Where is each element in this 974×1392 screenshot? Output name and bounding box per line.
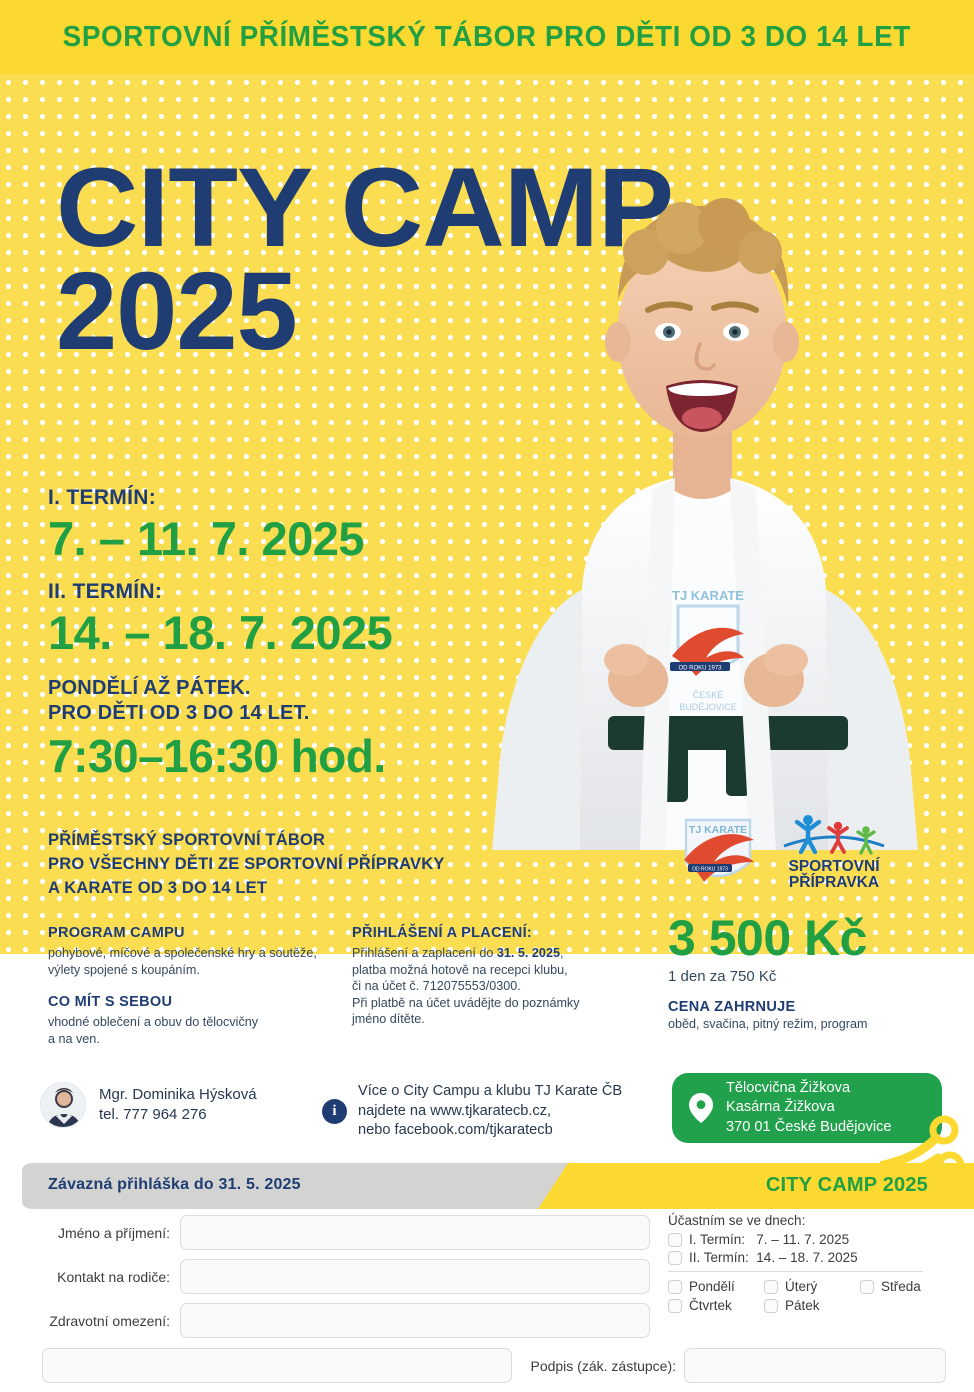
payment-line-1-pre: Přihlášení a zaplacení do	[352, 946, 497, 960]
field-row-health: Zdravotní omezení:	[42, 1303, 652, 1338]
checkbox-row-thursday[interactable]: Čtvrtek	[668, 1298, 764, 1313]
payment-line-3: či na účet č. 712075553/0300.	[352, 978, 642, 995]
svg-text:OD ROKU 1973: OD ROKU 1973	[678, 666, 722, 672]
checkbox-row-term-2[interactable]: II. Termín: 14. – 18. 7. 2025	[668, 1250, 968, 1265]
payment-line-2: platba možná hotově na recepci klubu,	[352, 962, 642, 979]
checkbox-term-1[interactable]	[668, 1233, 682, 1247]
title-line-2: 2025	[56, 260, 661, 364]
title-line-1: CITY CAMP	[56, 160, 673, 256]
checkbox-row-wednesday[interactable]: Středa	[860, 1279, 956, 1294]
svg-text:TJ KARATE: TJ KARATE	[689, 824, 747, 836]
weekday-row-1: Pondělí Úterý Středa	[668, 1279, 968, 1298]
program-body-2: výlety spojené s koupáním.	[48, 962, 338, 979]
program-body-1: pohybové, míčové a společenské hry a sou…	[48, 945, 338, 962]
checkbox-label-thursday: Čtvrtek	[689, 1298, 732, 1313]
hours-line-1: PONDĚLÍ AŽ PÁTEK.	[48, 676, 386, 701]
term-1-checkbox-value: 7. – 11. 7. 2025	[756, 1232, 849, 1247]
checkbox-divider	[668, 1271, 923, 1272]
checkbox-thursday[interactable]	[668, 1299, 682, 1313]
price-per-day: 1 den za 750 Kč	[668, 968, 868, 985]
hours-line-2: PRO DĚTI OD 3 DO 14 LET.	[48, 701, 386, 726]
term-2-value: 14. – 18. 7. 2025	[48, 606, 392, 660]
term-2-checkbox-value: 14. – 18. 7. 2025	[756, 1250, 857, 1265]
payment-line-1: Přihlášení a zaplacení do 31. 5. 2025,	[352, 945, 642, 962]
location-line-1: Tělocvična Žižkova	[726, 1079, 892, 1099]
svg-text:SPORTOVNÍ: SPORTOVNÍ	[788, 858, 880, 875]
program-column: PROGRAM CAMPU pohybové, míčové a společe…	[48, 925, 338, 1047]
field-label-parent-contact: Kontakt na rodiče:	[42, 1269, 170, 1285]
svg-text:BUDĚJOVICE: BUDĚJOVICE	[679, 702, 737, 712]
checkbox-monday[interactable]	[668, 1280, 682, 1294]
payment-deadline: 31. 5. 2025	[497, 946, 560, 960]
svg-text:TJ KARATE: TJ KARATE	[672, 588, 744, 603]
svg-text:OD ROKU 1973: OD ROKU 1973	[692, 867, 728, 873]
avatar-photo-icon	[41, 1083, 86, 1128]
weblink-line-2[interactable]: najdete na www.tjkaratecb.cz,	[358, 1102, 622, 1122]
field-input-parent-contact[interactable]	[180, 1259, 650, 1294]
term-2-checkbox-label: II. Termín:	[689, 1250, 749, 1265]
poster-title: CITY CAMP 2025	[56, 160, 661, 364]
field-input-name[interactable]	[180, 1215, 650, 1250]
checkbox-label-term-1: I. Termín: 7. – 11. 7. 2025	[689, 1232, 849, 1247]
top-banner-text: SPORTOVNÍ PŘÍMĚSTSKÝ TÁBOR PRO DĚTI OD 3…	[63, 21, 911, 54]
term-2-label: II. TERMÍN:	[48, 580, 392, 604]
location-line-3: 370 01 České Budějovice	[726, 1118, 892, 1138]
checkbox-label-friday: Pátek	[785, 1298, 820, 1313]
payment-heading: PŘIHLÁŠENÍ A PLACENÍ:	[352, 925, 642, 941]
location-line-2: Kasárna Žižkova	[726, 1098, 892, 1118]
sportovni-pripravka-logo-icon: SPORTOVNÍ PŘÍPRAVKA	[774, 812, 894, 892]
weblink-line-1: Více o City Campu a klubu TJ Karate ČB	[358, 1082, 622, 1102]
bring-body-2: a na ven.	[48, 1031, 338, 1048]
payment-line-4: Při platbě na účet uvádějte do poznámky	[352, 995, 642, 1012]
price-includes-body: oběd, svačina, pitný režim, program	[668, 1017, 868, 1031]
subtitle-line-3: A KARATE OD 3 DO 14 LET	[48, 876, 445, 900]
weblink-line-3[interactable]: nebo facebook.com/tjkaratecb	[358, 1121, 622, 1141]
field-label-health: Zdravotní omezení:	[42, 1313, 170, 1329]
attendance-title: Účastním se ve dnech:	[668, 1213, 968, 1228]
field-input-health[interactable]	[180, 1303, 650, 1338]
price-includes-heading: CENA ZAHRNUJE	[668, 999, 868, 1015]
form-header-brand: CITY CAMP 2025	[766, 1174, 928, 1197]
location-text: Tělocvična Žižkova Kasárna Žižkova 370 0…	[726, 1079, 892, 1138]
hours-value: 7:30–16:30 hod.	[48, 730, 386, 782]
bring-heading: CO MÍT S SEBOU	[48, 994, 338, 1010]
tj-karate-logo-icon: TJ KARATE OD ROKU 1973	[676, 812, 760, 896]
svg-text:ČESKÉ: ČESKÉ	[693, 690, 724, 700]
dates-block: I. TERMÍN: 7. – 11. 7. 2025 II. TERMÍN: …	[48, 486, 392, 660]
checkbox-row-tuesday[interactable]: Úterý	[764, 1279, 860, 1294]
checkbox-term-2[interactable]	[668, 1251, 682, 1265]
contact-block: Mgr. Dominika Hýsková tel. 777 964 276	[40, 1082, 257, 1128]
field-row-name: Jméno a příjmení:	[42, 1215, 652, 1250]
payment-line-5: jméno dítěte.	[352, 1011, 642, 1028]
checkbox-tuesday[interactable]	[764, 1280, 778, 1294]
subtitle-line-2: PRO VŠECHNY DĚTI ZE SPORTOVNÍ PŘÍPRAVKY	[48, 852, 445, 876]
field-input-signature[interactable]	[684, 1348, 946, 1383]
logos-row: TJ KARATE OD ROKU 1973 SPORTOVNÍ PŘÍPRAV…	[676, 812, 894, 896]
bring-body-1: vhodné oblečení a obuv do tělocvičny	[48, 1014, 338, 1031]
contact-text: Mgr. Dominika Hýsková tel. 777 964 276	[99, 1085, 257, 1125]
contact-phone: tel. 777 964 276	[99, 1105, 257, 1125]
term-1-value: 7. – 11. 7. 2025	[48, 512, 392, 566]
hours-block: PONDĚLÍ AŽ PÁTEK. PRO DĚTI OD 3 DO 14 LE…	[48, 676, 386, 782]
poster-root: SPORTOVNÍ PŘÍMĚSTSKÝ TÁBOR PRO DĚTI OD 3…	[0, 0, 974, 1392]
top-banner: SPORTOVNÍ PŘÍMĚSTSKÝ TÁBOR PRO DĚTI OD 3…	[0, 0, 974, 74]
checkbox-label-tuesday: Úterý	[785, 1279, 817, 1294]
info-icon: i	[322, 1099, 347, 1124]
payment-column: PŘIHLÁŠENÍ A PLACENÍ: Přihlášení a zapla…	[352, 925, 642, 1028]
subtitle-line-1: PŘÍMĚSTSKÝ SPORTOVNÍ TÁBOR	[48, 828, 445, 852]
field-input-note[interactable]	[42, 1348, 512, 1383]
program-heading: PROGRAM CAMPU	[48, 925, 338, 941]
subtitle-block: PŘÍMĚSTSKÝ SPORTOVNÍ TÁBOR PRO VŠECHNY D…	[48, 828, 445, 900]
checkbox-label-wednesday: Středa	[881, 1279, 921, 1294]
field-row-signature: Podpis (zák. zástupce):	[528, 1348, 946, 1383]
svg-text:PŘÍPRAVKA: PŘÍPRAVKA	[789, 873, 879, 891]
checkbox-row-monday[interactable]: Pondělí	[668, 1279, 764, 1294]
payment-line-1-post: ,	[560, 946, 564, 960]
checkbox-label-monday: Pondělí	[689, 1279, 735, 1294]
field-row-parent-contact: Kontakt na rodiče:	[42, 1259, 652, 1294]
checkbox-friday[interactable]	[764, 1299, 778, 1313]
checkbox-label-term-2: II. Termín: 14. – 18. 7. 2025	[689, 1250, 858, 1265]
checkbox-wednesday[interactable]	[860, 1280, 874, 1294]
checkbox-row-term-1[interactable]: I. Termín: 7. – 11. 7. 2025	[668, 1232, 968, 1247]
price-block: 3 500 Kč 1 den za 750 Kč CENA ZAHRNUJE o…	[668, 912, 868, 1031]
weblink-block[interactable]: i Více o City Campu a klubu TJ Karate ČB…	[322, 1082, 622, 1141]
checkbox-row-friday[interactable]: Pátek	[764, 1298, 860, 1313]
avatar	[40, 1082, 86, 1128]
form-header-deadline: Závazná přihláška do 31. 5. 2025	[48, 1176, 301, 1194]
field-label-name: Jméno a příjmení:	[42, 1225, 170, 1241]
attendance-checkbox-panel: Účastním se ve dnech: I. Termín: 7. – 11…	[668, 1213, 968, 1317]
term-1-label: I. TERMÍN:	[48, 486, 392, 510]
price-main: 3 500 Kč	[668, 912, 868, 964]
weekday-row-2: Čtvrtek Pátek	[668, 1298, 968, 1317]
map-pin-icon	[688, 1092, 714, 1124]
field-label-signature: Podpis (zák. zástupce):	[528, 1358, 676, 1374]
weblink-text: Více o City Campu a klubu TJ Karate ČB n…	[358, 1082, 622, 1141]
contact-name: Mgr. Dominika Hýsková	[99, 1085, 257, 1105]
term-1-checkbox-label: I. Termín:	[689, 1232, 745, 1247]
